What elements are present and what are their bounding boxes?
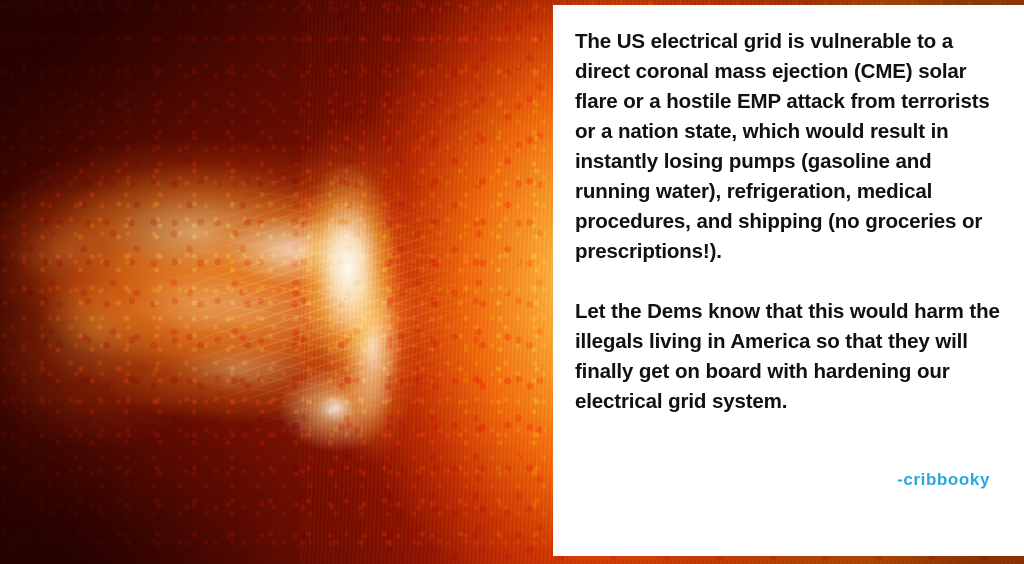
graphic-canvas: The US electrical grid is vulnerable to … bbox=[0, 0, 1024, 564]
caption-panel: The US electrical grid is vulnerable to … bbox=[553, 5, 1024, 556]
caption-paragraph-2: Let the Dems know that this would harm t… bbox=[575, 297, 1012, 417]
caption-paragraph-1: The US electrical grid is vulnerable to … bbox=[575, 27, 1012, 267]
attribution-signature: -cribbooky bbox=[897, 470, 990, 490]
